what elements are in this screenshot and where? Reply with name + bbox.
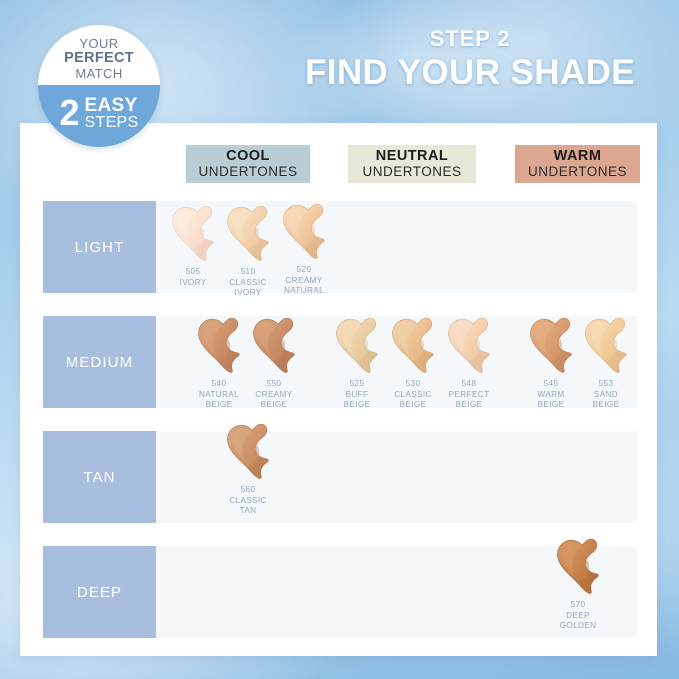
foundation-smear-icon — [223, 203, 273, 265]
shade-swatch-540[interactable]: 540 NATURAL BEIGE — [192, 315, 246, 411]
row-label-tan: TAN — [43, 431, 156, 523]
badge-word-steps: STEPS — [85, 115, 139, 131]
shade-label-550: 550 CREAMY BEIGE — [255, 379, 292, 411]
shade-label-545: 545 WARM BEIGE — [537, 379, 564, 411]
column-subtitle-neutral: UNDERTONES — [362, 165, 461, 179]
page-header: STEP 2 FIND YOUR SHADE — [300, 26, 640, 93]
shade-swatch-553[interactable]: 553 SAND BEIGE — [579, 315, 633, 411]
column-subtitle-cool: UNDERTONES — [198, 165, 297, 179]
foundation-smear-icon — [279, 201, 329, 263]
shade-label-510: 510 CLASSIC IVORY — [229, 267, 267, 299]
foundation-smear-icon — [388, 315, 438, 377]
row-label-light: LIGHT — [43, 201, 156, 293]
column-subtitle-warm: UNDERTONES — [528, 165, 627, 179]
badge-line-your: YOUR — [79, 37, 118, 51]
shade-swatch-548[interactable]: 548 PERFECT BEIGE — [442, 315, 496, 411]
badge-step-number: 2 — [60, 95, 80, 131]
foundation-smear-icon — [194, 315, 244, 377]
foundation-smear-icon — [526, 315, 576, 377]
badge-top-half: YOUR PERFECT MATCH — [38, 25, 160, 85]
shade-swatch-520[interactable]: 520 CREAMY NATURAL — [277, 201, 331, 297]
foundation-smear-icon — [223, 421, 273, 483]
shade-label-570: 570 DEEP GOLDEN — [560, 600, 597, 632]
shade-label-548: 548 PERFECT BEIGE — [449, 379, 490, 411]
shade-swatch-525[interactable]: 525 BUFF BEIGE — [330, 315, 384, 411]
shade-label-530: 530 CLASSIC BEIGE — [394, 379, 432, 411]
shade-swatch-560[interactable]: 560 CLASSIC TAN — [221, 421, 275, 517]
column-title-neutral: NEUTRAL — [376, 149, 448, 164]
shade-label-560: 560 CLASSIC TAN — [229, 485, 267, 517]
shade-label-540: 540 NATURAL BEIGE — [199, 379, 239, 411]
row-label-medium: MEDIUM — [43, 316, 156, 408]
step-label: STEP 2 — [300, 26, 640, 52]
badge-bottom-half: 2 EASY STEPS — [38, 85, 160, 147]
shade-swatch-505[interactable]: 505 IVORY — [166, 203, 220, 288]
column-header-cool: COOL UNDERTONES — [186, 145, 310, 183]
shade-label-520: 520 CREAMY NATURAL — [284, 265, 324, 297]
shade-swatch-510[interactable]: 510 CLASSIC IVORY — [221, 203, 275, 299]
shade-swatch-545[interactable]: 545 WARM BEIGE — [524, 315, 578, 411]
foundation-smear-icon — [553, 536, 603, 598]
foundation-smear-icon — [249, 315, 299, 377]
shade-swatch-550[interactable]: 550 CREAMY BEIGE — [247, 315, 301, 411]
perfect-match-badge: YOUR PERFECT MATCH 2 EASY STEPS — [38, 25, 160, 147]
foundation-smear-icon — [444, 315, 494, 377]
foundation-smear-icon — [581, 315, 631, 377]
page-title: FIND YOUR SHADE — [300, 53, 640, 93]
badge-words: EASY STEPS — [85, 96, 139, 131]
column-title-cool: COOL — [226, 149, 270, 164]
column-header-warm: WARM UNDERTONES — [515, 145, 640, 183]
badge-line-perfect: PERFECT — [64, 51, 134, 67]
shade-label-505: 505 IVORY — [179, 267, 206, 288]
foundation-smear-icon — [332, 315, 382, 377]
shade-swatch-570[interactable]: 570 DEEP GOLDEN — [551, 536, 605, 632]
shade-swatch-530[interactable]: 530 CLASSIC BEIGE — [386, 315, 440, 411]
row-label-deep: DEEP — [43, 546, 156, 638]
column-title-warm: WARM — [554, 149, 602, 164]
shade-label-525: 525 BUFF BEIGE — [344, 379, 371, 411]
column-header-neutral: NEUTRAL UNDERTONES — [348, 145, 476, 183]
shade-label-553: 553 SAND BEIGE — [593, 379, 620, 411]
foundation-smear-icon — [168, 203, 218, 265]
badge-word-easy: EASY — [85, 96, 139, 115]
badge-line-match: MATCH — [75, 67, 122, 81]
